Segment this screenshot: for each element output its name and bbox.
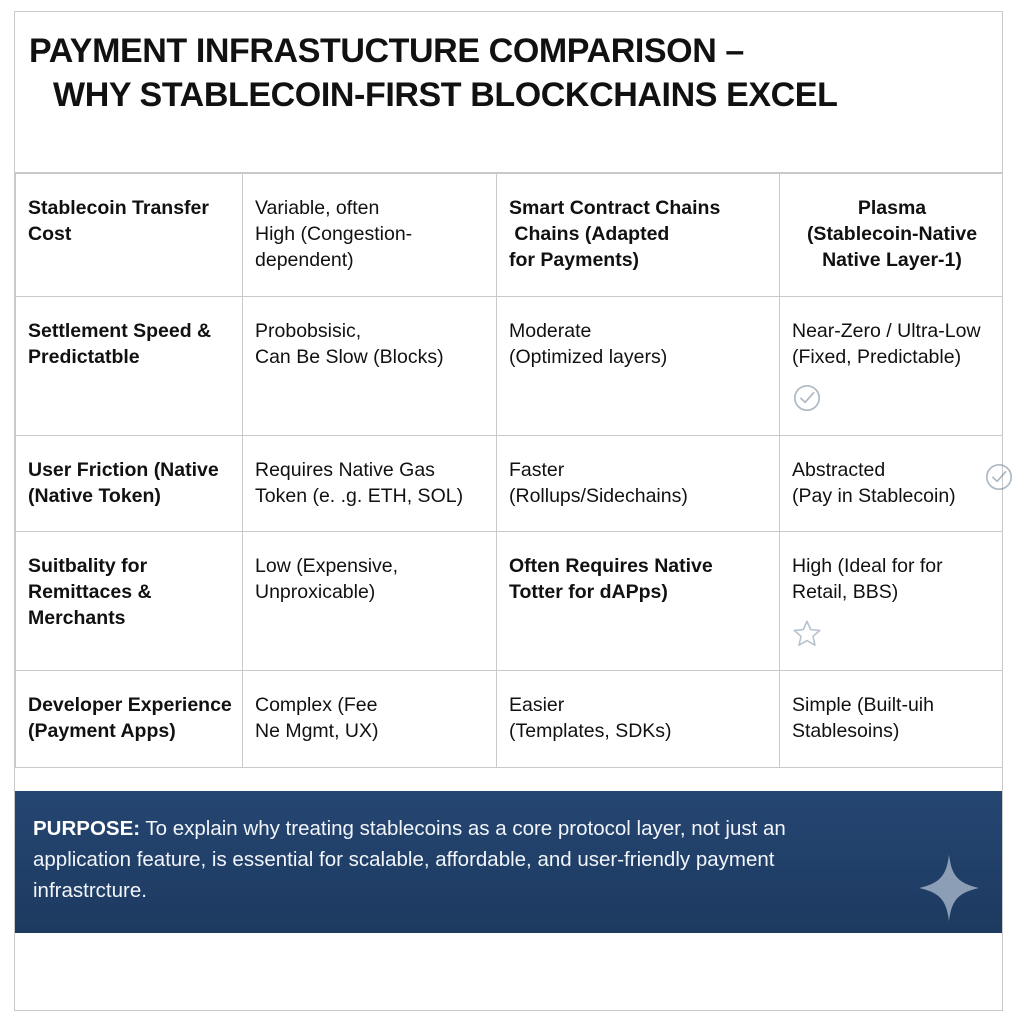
plasma-cell: Near-Zero / Ultra-Low(Fixed, Predictable… (780, 296, 1003, 435)
smart-contract-chains-cell: Smart Contract Chains Chains (Adaptedfor… (497, 174, 780, 297)
star-icon (792, 618, 822, 648)
cell-line: dependent) (255, 248, 486, 274)
cell-line: Remittaces & (28, 580, 232, 606)
cell-line: Token (e. .g. ETH, SOL) (255, 484, 486, 510)
cell-line: Probobsisic, (255, 319, 486, 345)
cell-line: Abstracted (792, 458, 992, 484)
plasma-cell: Abstracted(Pay in Stablecoin) (780, 435, 1003, 532)
purpose-text: PURPOSE: To explain why treating stablec… (33, 813, 882, 906)
plasma-cell: High (Ideal for forRetail, BBS) (780, 532, 1003, 671)
cell-line: Ne Mgmt, UX) (255, 719, 486, 745)
row-label-cell: Stablecoin TransferCost (16, 174, 243, 297)
table-row: Developer Experience(Payment Apps)Comple… (16, 671, 1003, 768)
cell-line: (Fixed, Predictable) (792, 345, 992, 371)
legacy-chains-cell: Probobsisic,Can Be Slow (Blocks) (243, 296, 497, 435)
cell-line: User Friction (Native (28, 458, 232, 484)
cell-line: Faster (509, 458, 769, 484)
purpose-section: PURPOSE: To explain why treating stablec… (15, 768, 1002, 932)
cell-line: Complex (Fee (255, 693, 486, 719)
cell-line: Plasma (792, 196, 992, 222)
plasma-cell: Simple (Built-uihStablesoins) (780, 671, 1003, 768)
cell-line: Can Be Slow (Blocks) (255, 345, 486, 371)
row-label-cell: Suitbality forRemittaces &Merchants (16, 532, 243, 671)
purpose-lead: PURPOSE: (33, 817, 140, 840)
cell-line: Requires Native Gas (255, 458, 486, 484)
cell-line: (Stablecoin-Native (792, 222, 992, 248)
row-label-cell: User Friction (Native(Native Token) (16, 435, 243, 532)
row-label-cell: Developer Experience(Payment Apps) (16, 671, 243, 768)
legacy-chains-cell: Complex (FeeNe Mgmt, UX) (243, 671, 497, 768)
check-circle-icon (984, 462, 1014, 492)
infographic-card: PAYMENT INFRASTUCTURE COMPARISON – WHY S… (14, 11, 1003, 1011)
cell-line: (Payment Apps) (28, 719, 232, 745)
title-line-1: PAYMENT INFRASTUCTURE COMPARISON – (29, 30, 980, 74)
cell-line: Chains (Adapted (509, 222, 769, 248)
smart-contract-chains-cell: Moderate(Optimized layers) (497, 296, 780, 435)
cell-line: Cost (28, 222, 232, 248)
table-row: Settlement Speed &PredictatbleProbobsisi… (16, 296, 1003, 435)
cell-line: Stablesoins) (792, 719, 992, 745)
cell-line: (Templates, SDKs) (509, 719, 769, 745)
smart-contract-chains-cell: Faster(Rollups/Sidechains) (497, 435, 780, 532)
purpose-banner: PURPOSE: To explain why treating stablec… (15, 791, 1002, 932)
legacy-chains-cell: Variable, oftenHigh (Congestion-dependen… (243, 174, 497, 297)
page-title: PAYMENT INFRASTUCTURE COMPARISON – WHY S… (15, 12, 1002, 173)
smart-contract-chains-cell: Easier(Templates, SDKs) (497, 671, 780, 768)
cell-line: (Optimized layers) (509, 345, 769, 371)
purpose-body: To explain why treating stablecoins as a… (33, 817, 786, 902)
cell-line: Predictatble (28, 345, 232, 371)
cell-line: Smart Contract Chains (509, 196, 769, 222)
cell-line: High (Congestion- (255, 222, 486, 248)
table-row: Suitbality forRemittaces &MerchantsLow (… (16, 532, 1003, 671)
legacy-chains-cell: Requires Native GasToken (e. .g. ETH, SO… (243, 435, 497, 532)
cell-line: (Pay in Stablecoin) (792, 484, 992, 510)
cell-line: Suitbality for (28, 554, 232, 580)
cell-line: (Native Token) (28, 484, 232, 510)
cell-line: Low (Expensive, (255, 554, 486, 580)
cell-line: Simple (Built-uih (792, 693, 992, 719)
cell-line: High (Ideal for for (792, 554, 992, 580)
cell-line: Settlement Speed & (28, 319, 232, 345)
plasma-column-header: Plasma(Stablecoin-NativeNative Layer-1) (780, 174, 1003, 297)
cell-line: Retail, BBS) (792, 580, 992, 606)
cell-line: Unproxicable) (255, 580, 486, 606)
cell-line: (Rollups/Sidechains) (509, 484, 769, 510)
cell-line: Variable, often (255, 196, 486, 222)
comparison-table: Stablecoin TransferCostVariable, oftenHi… (15, 173, 1003, 768)
cell-line: Stablecoin Transfer (28, 196, 232, 222)
cell-line: Totter for dAPps) (509, 580, 769, 606)
table-row: User Friction (Native(Native Token)Requi… (16, 435, 1003, 532)
cell-line: Developer Experience (28, 693, 232, 719)
smart-contract-chains-cell: Often Requires NativeTotter for dAPps) (497, 532, 780, 671)
table-row: Stablecoin TransferCostVariable, oftenHi… (16, 174, 1003, 297)
cell-line: Often Requires Native (509, 554, 769, 580)
sparkle-icon (918, 853, 980, 923)
row-label-cell: Settlement Speed &Predictatble (16, 296, 243, 435)
cell-line: Easier (509, 693, 769, 719)
cell-line: Merchants (28, 606, 232, 632)
check-circle-icon (792, 383, 822, 413)
cell-line: Native Layer-1) (792, 248, 992, 274)
legacy-chains-cell: Low (Expensive,Unproxicable) (243, 532, 497, 671)
title-line-2: WHY STABLECOIN-FIRST BLOCKCHAINS EXCEL (29, 74, 980, 118)
cell-line: Near-Zero / Ultra-Low (792, 319, 992, 345)
cell-line: for Payments) (509, 248, 769, 274)
cell-line: Moderate (509, 319, 769, 345)
